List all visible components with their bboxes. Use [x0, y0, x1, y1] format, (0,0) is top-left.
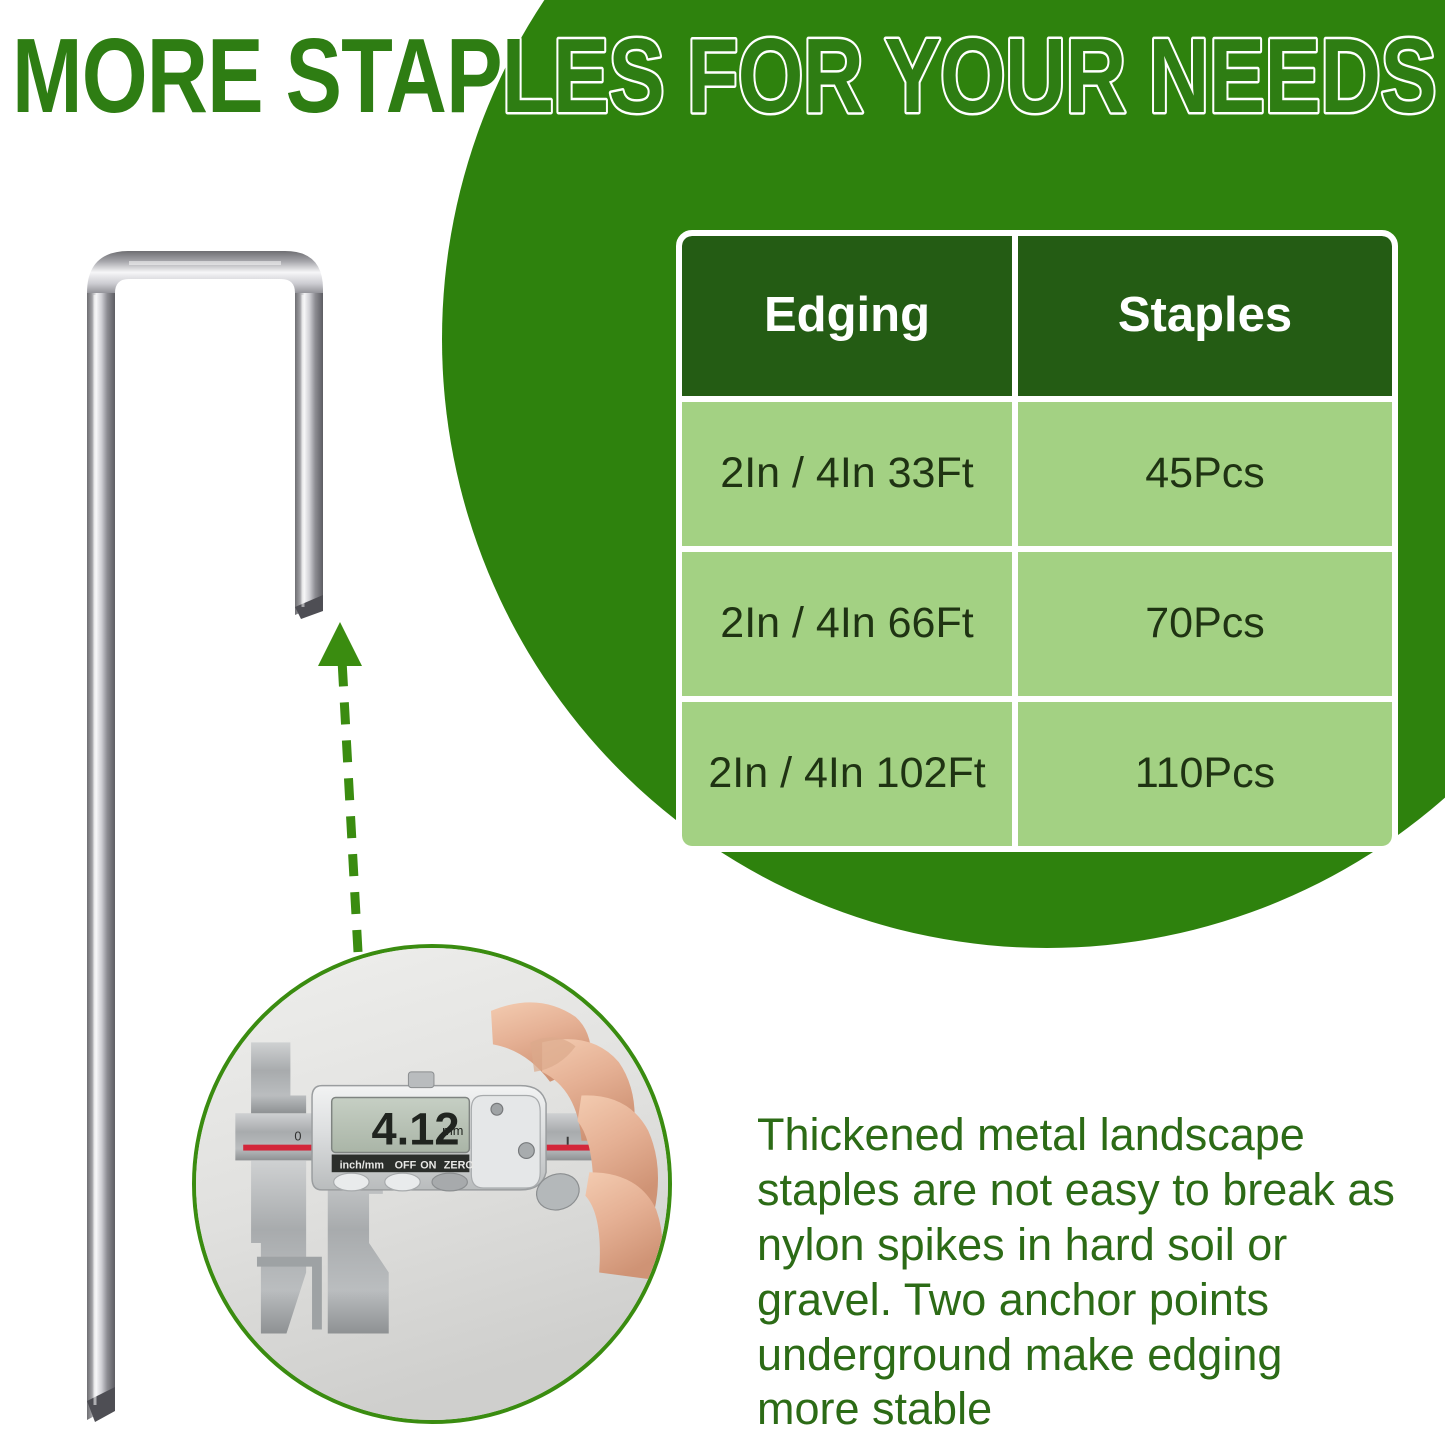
dashed-arrow-icon: [280, 600, 420, 960]
caliper-button-label-off: OFF: [395, 1159, 417, 1171]
product-infographic: MORE STAPLES FOR YOUR NEEDS: [0, 0, 1445, 1438]
cell-staples: 110Pcs: [1018, 702, 1392, 846]
cell-edging: 2In / 4In 66Ft: [682, 552, 1012, 696]
table-row: 2In / 4In 66Ft 70Pcs: [682, 552, 1392, 696]
table-row: 2In / 4In 102Ft 110Pcs: [682, 702, 1392, 846]
caliper-button-label-inchmm: inch/mm: [340, 1159, 384, 1171]
column-header-edging: Edging: [682, 236, 1012, 396]
cell-edging: 2In / 4In 33Ft: [682, 402, 1012, 546]
caliper-button-label-zero: ZERO: [444, 1159, 474, 1171]
ruler-tick-0: 0: [294, 1129, 301, 1144]
column-header-staples: Staples: [1018, 236, 1392, 396]
page-title: MORE STAPLES FOR YOUR NEEDS: [8, 16, 1440, 136]
spec-table: Edging Staples 2In / 4In 33Ft 45Pcs 2In …: [676, 230, 1398, 852]
caliper-button-label-on: ON: [420, 1159, 436, 1171]
description-text: Thickened metal landscape staples are no…: [757, 1108, 1397, 1437]
caliper-reading-unit: mm: [442, 1123, 463, 1138]
caliper-photo: 0 70 80 4.12 mm inch/mm OFF ON: [192, 944, 672, 1424]
cell-staples: 45Pcs: [1018, 402, 1392, 546]
table-row: 2In / 4In 33Ft 45Pcs: [682, 402, 1392, 546]
cell-edging: 2In / 4In 102Ft: [682, 702, 1012, 846]
table-header-row: Edging Staples: [682, 236, 1392, 396]
cell-staples: 70Pcs: [1018, 552, 1392, 696]
page-title-text: MORE STAPLES FOR YOUR NEEDS: [12, 17, 1436, 135]
